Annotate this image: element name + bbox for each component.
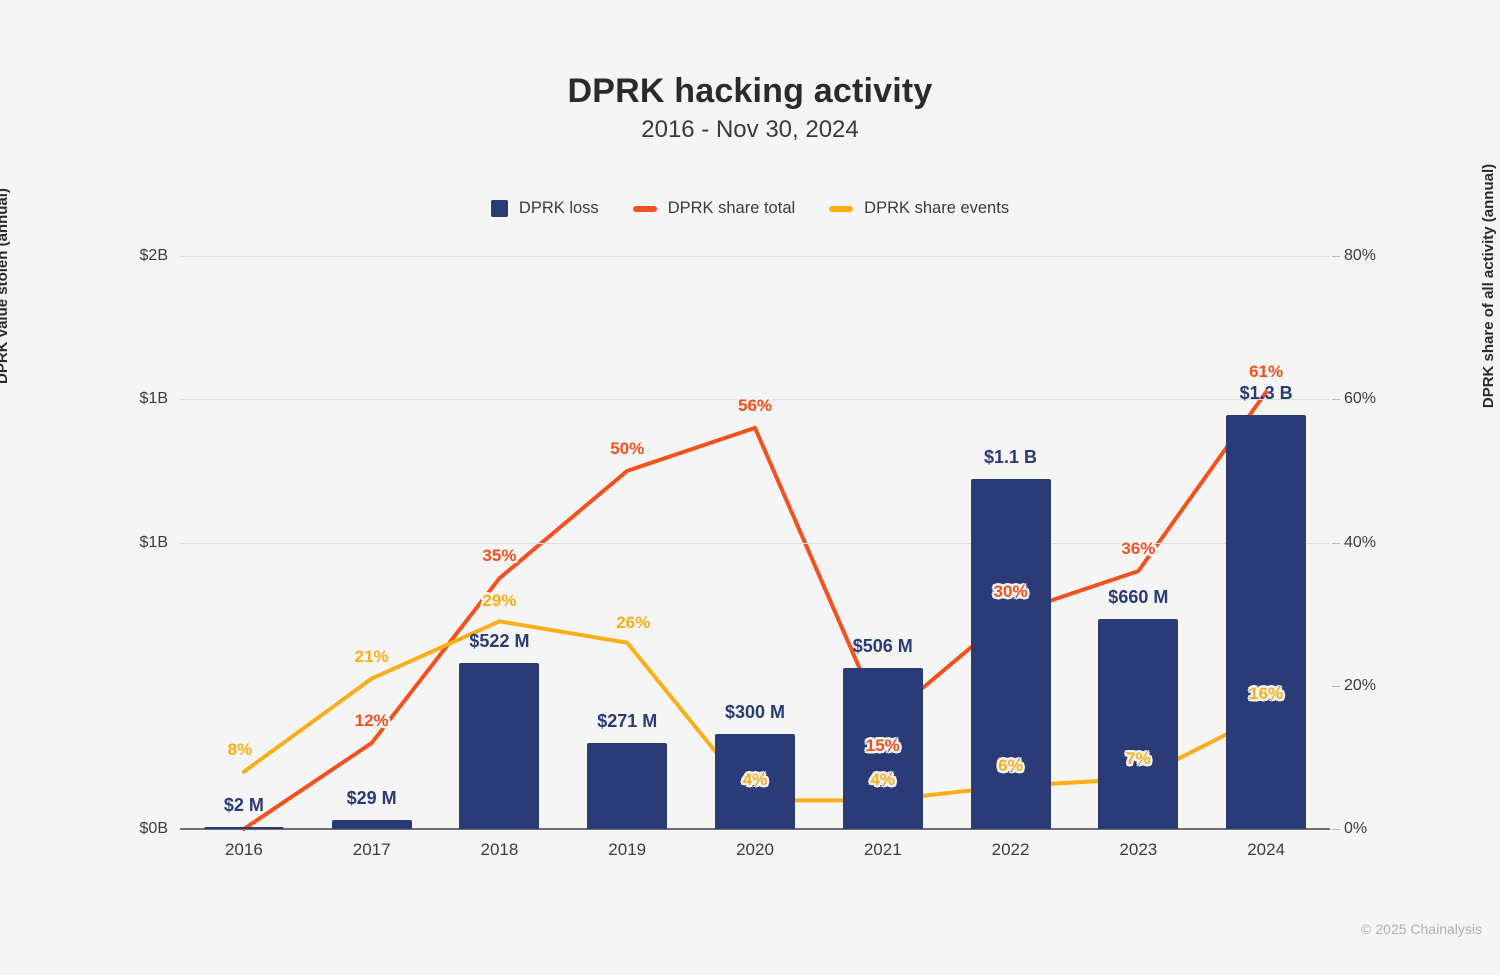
page-title: DPRK hacking activity [0, 72, 1500, 111]
bar-value-label-2018: $522 M [469, 631, 529, 652]
y-axis-right-tick-label: 40% [1344, 534, 1414, 552]
share-total-point-label-2024: 61% [1249, 362, 1283, 382]
share-events-point-label-2017: 21% [355, 647, 389, 667]
y-axis-left-tick-label: $1B [98, 390, 168, 408]
legend-item-dprk-share-total[interactable]: DPRK share total [633, 199, 795, 218]
y-axis-right-tick-label: 20% [1344, 677, 1414, 695]
y-axis-right-tick-label: 60% [1344, 390, 1414, 408]
x-axis-tick-label-2023: 2023 [1119, 840, 1157, 860]
share-events-point-label-2020: 4% [743, 770, 768, 790]
x-axis-tick-label-2020: 2020 [736, 840, 774, 860]
bar-value-label-2017: $29 M [347, 788, 397, 809]
bar-2016[interactable] [204, 827, 284, 829]
y-axis-right-tickmark [1332, 686, 1340, 687]
y-axis-left-title: DPRK value stolen (annual) [0, 188, 11, 384]
x-axis-tick-label-2019: 2019 [608, 840, 646, 860]
y-axis-left-tick-label: $2B [98, 247, 168, 265]
bar-value-label-2023: $660 M [1108, 587, 1168, 608]
x-axis-tick-label-2021: 2021 [864, 840, 902, 860]
y-axis-right-tickmark [1332, 543, 1340, 544]
bar-2023[interactable] [1098, 619, 1178, 829]
share-total-point-label-2023: 36% [1121, 539, 1155, 559]
share-events-point-label-2019: 26% [616, 613, 650, 633]
bar-2019[interactable] [587, 743, 667, 829]
legend-swatch-icon-dprk-loss [491, 200, 508, 217]
y-axis-left-tick-label: $1B [98, 534, 168, 552]
y-axis-right-tick-label: 0% [1344, 820, 1414, 838]
y-axis-right-tickmark [1332, 256, 1340, 257]
gridline [180, 256, 1330, 257]
x-axis-tick-label-2024: 2024 [1247, 840, 1285, 860]
share-total-point-label-2019: 50% [610, 439, 644, 459]
chart-legend: DPRK loss DPRK share total DPRK share ev… [0, 199, 1500, 218]
footer-copyright: © 2025 Chainalysis [1361, 921, 1482, 937]
x-axis-tick-label-2016: 2016 [225, 840, 263, 860]
bar-value-label-2021: $506 M [853, 636, 913, 657]
chart-subtitle: 2016 - Nov 30, 2024 [0, 116, 1500, 144]
share-events-point-label-2018: 29% [482, 591, 516, 611]
share-events-point-label-2024: 16% [1249, 684, 1283, 704]
share-events-point-label-2022: 6% [998, 756, 1023, 776]
share-total-point-label-2017: 12% [355, 711, 389, 731]
share-events-point-label-2016: 8% [228, 740, 253, 760]
y-axis-right-title: DPRK share of all activity (annual) [1480, 164, 1497, 408]
x-axis-tick-label-2022: 2022 [992, 840, 1030, 860]
gridline [180, 543, 1330, 544]
bar-2024[interactable] [1226, 415, 1306, 829]
legend-line-icon-dprk-share-events [829, 206, 853, 212]
share-events-point-label-2023: 7% [1126, 749, 1151, 769]
share-total-point-label-2022: 30% [994, 582, 1028, 602]
legend-line-icon-dprk-share-total [633, 206, 657, 212]
share-events-point-label-2021: 4% [870, 770, 895, 790]
legend-label-dprk-share-total: DPRK share total [668, 199, 795, 218]
bar-2017[interactable] [332, 820, 412, 829]
legend-item-dprk-loss[interactable]: DPRK loss [491, 199, 599, 218]
bar-2022[interactable] [971, 479, 1051, 829]
legend-label-dprk-share-events: DPRK share events [864, 199, 1009, 218]
bar-value-label-2020: $300 M [725, 702, 785, 723]
legend-label-dprk-loss: DPRK loss [519, 199, 599, 218]
bar-value-label-2022: $1.1 B [984, 447, 1037, 468]
x-axis-tick-label-2017: 2017 [353, 840, 391, 860]
bar-value-label-2024: $1.3 B [1240, 383, 1293, 404]
bar-2018[interactable] [459, 663, 539, 829]
y-axis-right-tick-label: 80% [1344, 247, 1414, 265]
x-axis-tick-label-2018: 2018 [481, 840, 519, 860]
bar-value-label-2016: $2 M [224, 795, 264, 816]
share-total-point-label-2020: 56% [738, 396, 772, 416]
y-axis-left-tick-label: $0B [98, 820, 168, 838]
chart-container: DPRK hacking activity 2016 - Nov 30, 202… [0, 0, 1500, 975]
y-axis-right-tickmark [1332, 829, 1340, 830]
legend-item-dprk-share-events[interactable]: DPRK share events [829, 199, 1009, 218]
plot-area [180, 256, 1330, 829]
y-axis-right-tickmark [1332, 399, 1340, 400]
share-total-point-label-2021: 15% [866, 736, 900, 756]
bar-value-label-2019: $271 M [597, 711, 657, 732]
share-total-point-label-2018: 35% [482, 546, 516, 566]
